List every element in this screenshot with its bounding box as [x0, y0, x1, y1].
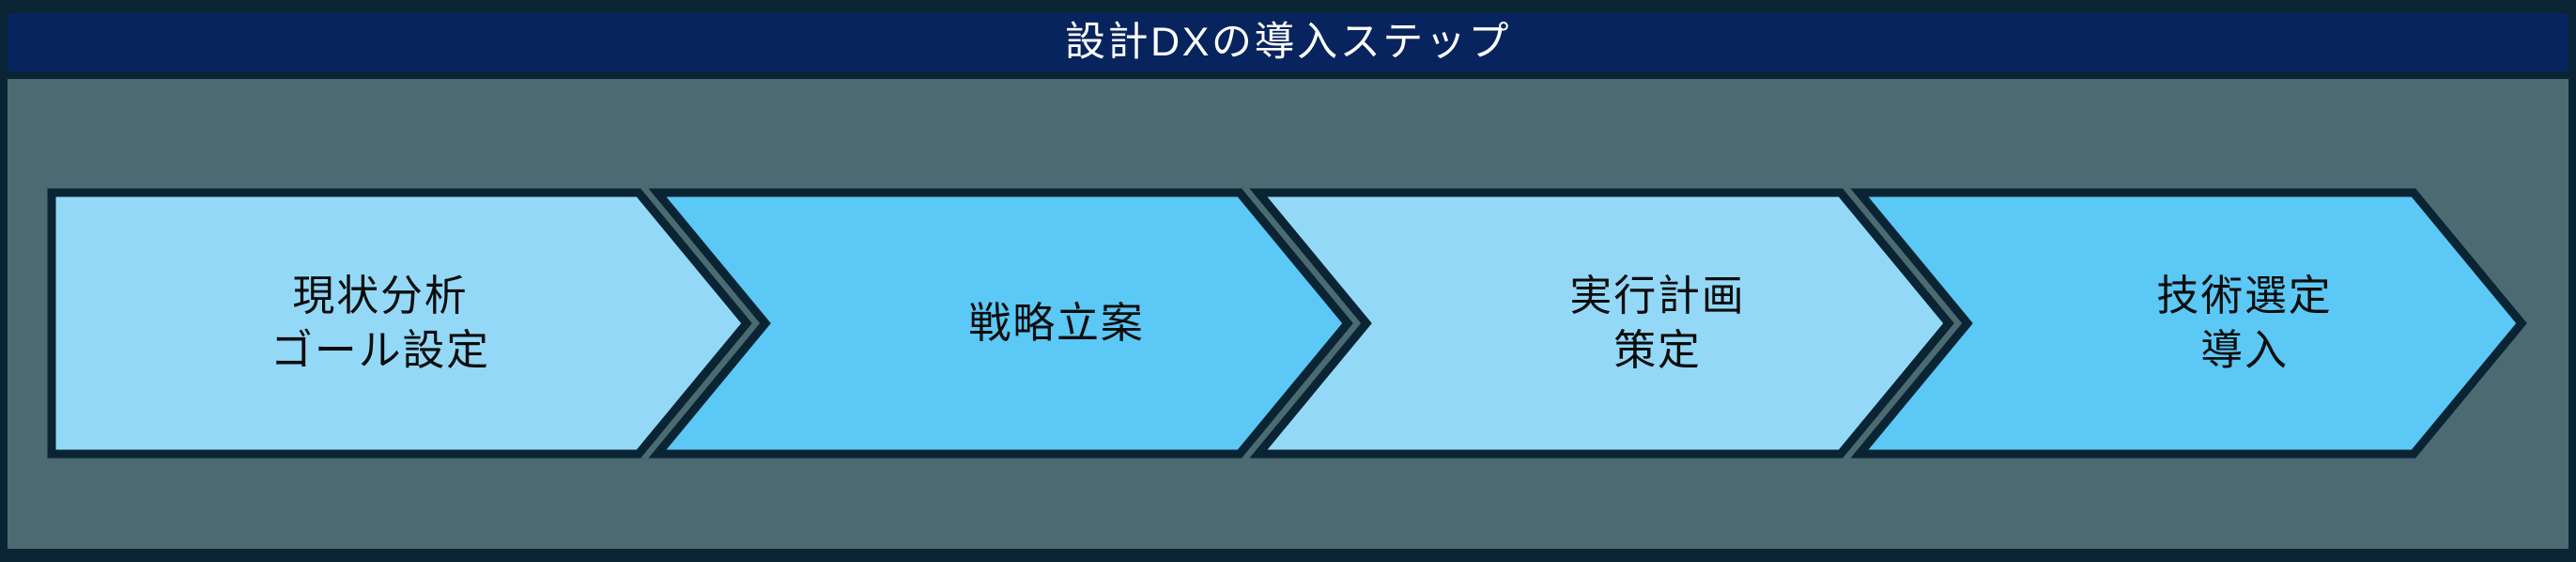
diagram-body-panel	[8, 79, 2568, 549]
diagram-frame: 設計DXの導入ステップ 現状分析 ゴール設定 戦略立案 実行計画 策定 技術選定…	[0, 0, 2576, 562]
title-banner: 設計DXの導入ステップ	[8, 13, 2568, 71]
page-title: 設計DXの導入ステップ	[1065, 23, 1511, 63]
